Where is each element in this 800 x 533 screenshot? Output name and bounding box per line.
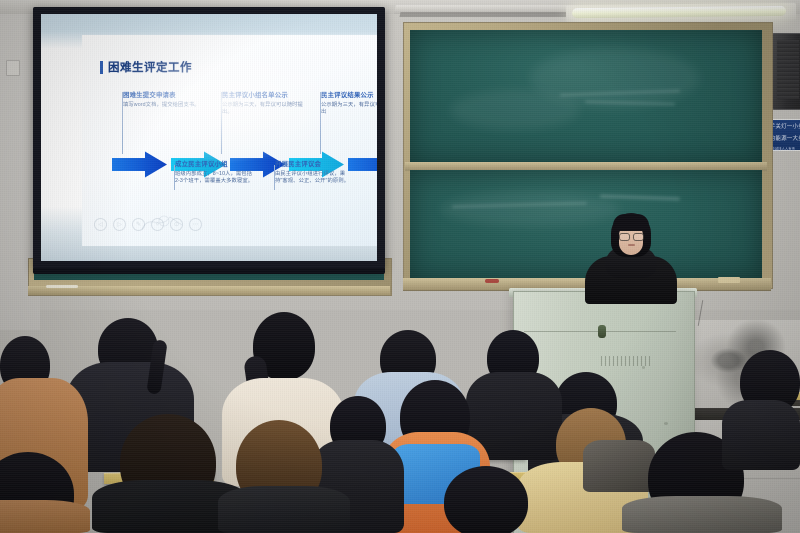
flow-step-3: 民主评议小组名单公示 公示期为三天，有异议可以随时提出。 [222, 92, 308, 116]
flow-step-1-heading: 困难生提交申请表 [123, 92, 201, 100]
presenter [583, 206, 678, 301]
white-chalk [46, 285, 78, 288]
audience-body [0, 500, 90, 533]
flow-step-3-heading: 民主评议小组名单公示 [222, 92, 308, 100]
flow-step-4: 开展民主评议会 由民主评议小组进行评议，秉持"客观、公正、公开"的原则。 [275, 161, 355, 185]
flow-step-3-body: 公示期为三天，有异议可以随时提出。 [222, 102, 308, 116]
lectern-vent [601, 356, 653, 366]
leader-line-3 [221, 92, 222, 154]
presenter-fringe [613, 214, 649, 231]
classroom-photo: 随手关灯一小步 节约能源一大步 节能减排人人有责 困难生评定工作 [0, 0, 800, 533]
chalk-line [600, 195, 680, 201]
flow-step-4-heading: 开展民主评议会 [275, 161, 355, 169]
speaker-grill [777, 40, 799, 99]
flow-step-4-body: 由民主评议小组进行评议，秉持"客观、公正、公开"的原则。 [275, 171, 355, 185]
flow-step-2-heading: 成立民主评议小组 [175, 161, 255, 169]
flow-step-1-body: 填写word文档，提交给团支书。 [123, 102, 201, 109]
audience-body [722, 400, 800, 470]
flow-arrow-1 [112, 151, 167, 178]
wall-outlet-left [6, 60, 20, 76]
blackboard-eraser [718, 277, 740, 283]
flow-step-5-heading: 民主评议结果公示 [321, 92, 377, 100]
chalkboard-upper-panel [410, 30, 762, 164]
leader-line-1 [122, 92, 123, 154]
audience-body [218, 486, 350, 533]
red-chalk [485, 279, 499, 283]
flow-step-5: 民主评议结果公示 公示期为三天，有异议可以随时提出 [321, 92, 377, 116]
prev-icon[interactable]: ◁ [94, 218, 107, 231]
presentation-slide[interactable]: 困难生评定工作 困难生提交申请表 填写word文档，提交给团支书。 民主评议小组… [82, 35, 377, 246]
lectern-lock-icon[interactable] [598, 325, 606, 338]
flow-step-2-body: 班级内部成立，8~10人，需包括2-3个班干，需覆盖大多数寝室。 [175, 171, 255, 185]
glasses-icon [619, 233, 643, 239]
projector-screen[interactable]: 困难生评定工作 困难生提交申请表 填写word文档，提交给团支书。 民主评议小组… [41, 14, 377, 261]
presenter-mouth [628, 244, 635, 246]
wall-speaker-icon [772, 33, 800, 110]
flow-step-1: 困难生提交申请表 填写word文档，提交给团支书。 [123, 92, 201, 109]
faint-doodle [140, 211, 186, 233]
audience-scarf [583, 440, 655, 492]
play-icon[interactable]: ▷ [113, 218, 126, 231]
process-flow-diagram: 困难生提交申请表 填写word文档，提交给团支书。 民主评议小组名单公示 公示期… [82, 35, 377, 246]
flow-step-5-body: 公示期为三天，有异议可以随时提出 [321, 102, 377, 116]
audience-body [622, 496, 782, 533]
ceiling-rail-shadow [399, 12, 575, 17]
more-icon[interactable]: ⋯ [189, 218, 202, 231]
leader-line-5 [320, 92, 321, 154]
flow-step-2: 成立民主评议小组 班级内部成立，8~10人，需包括2-3个班干，需覆盖大多数寝室… [175, 161, 255, 185]
audience-head [444, 466, 528, 533]
left-chalkboard-ledge [28, 286, 390, 295]
